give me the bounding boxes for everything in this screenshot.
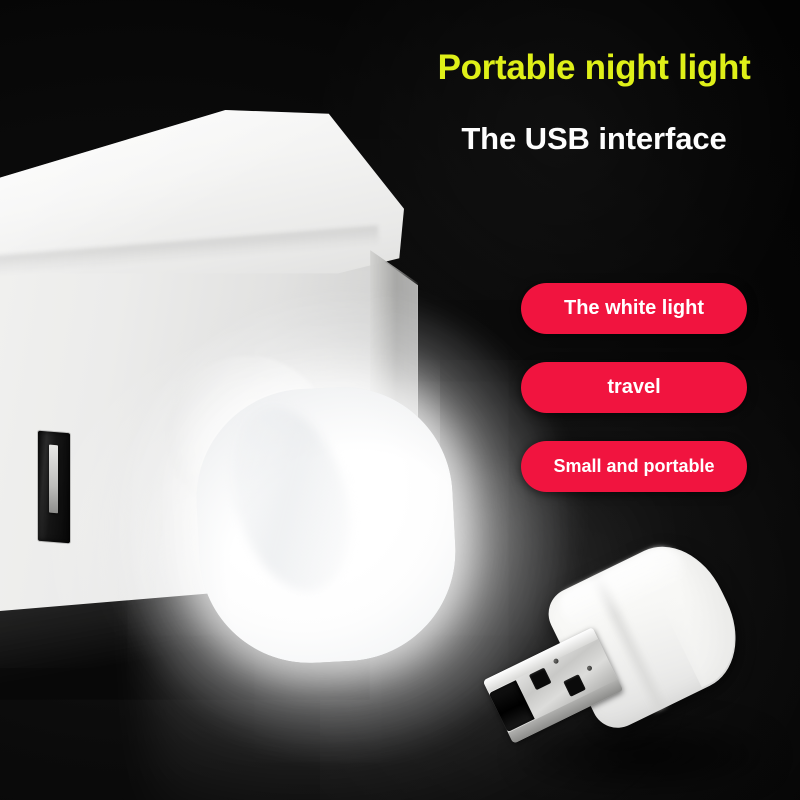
headline-text: Portable night light bbox=[404, 50, 784, 87]
subheadline-text: The USB interface bbox=[404, 122, 784, 156]
feature-badge-white-light[interactable]: The white light bbox=[521, 283, 747, 334]
feature-badge-small-and-portable[interactable]: Small and portable bbox=[521, 441, 747, 492]
usb-port-right bbox=[38, 431, 70, 544]
glowing-night-light bbox=[191, 381, 461, 668]
feature-badge-list: The white light travel Small and portabl… bbox=[521, 283, 747, 492]
product-ad-canvas: Portable night light The USB interface T… bbox=[0, 0, 800, 800]
feature-badge-travel[interactable]: travel bbox=[521, 362, 747, 413]
